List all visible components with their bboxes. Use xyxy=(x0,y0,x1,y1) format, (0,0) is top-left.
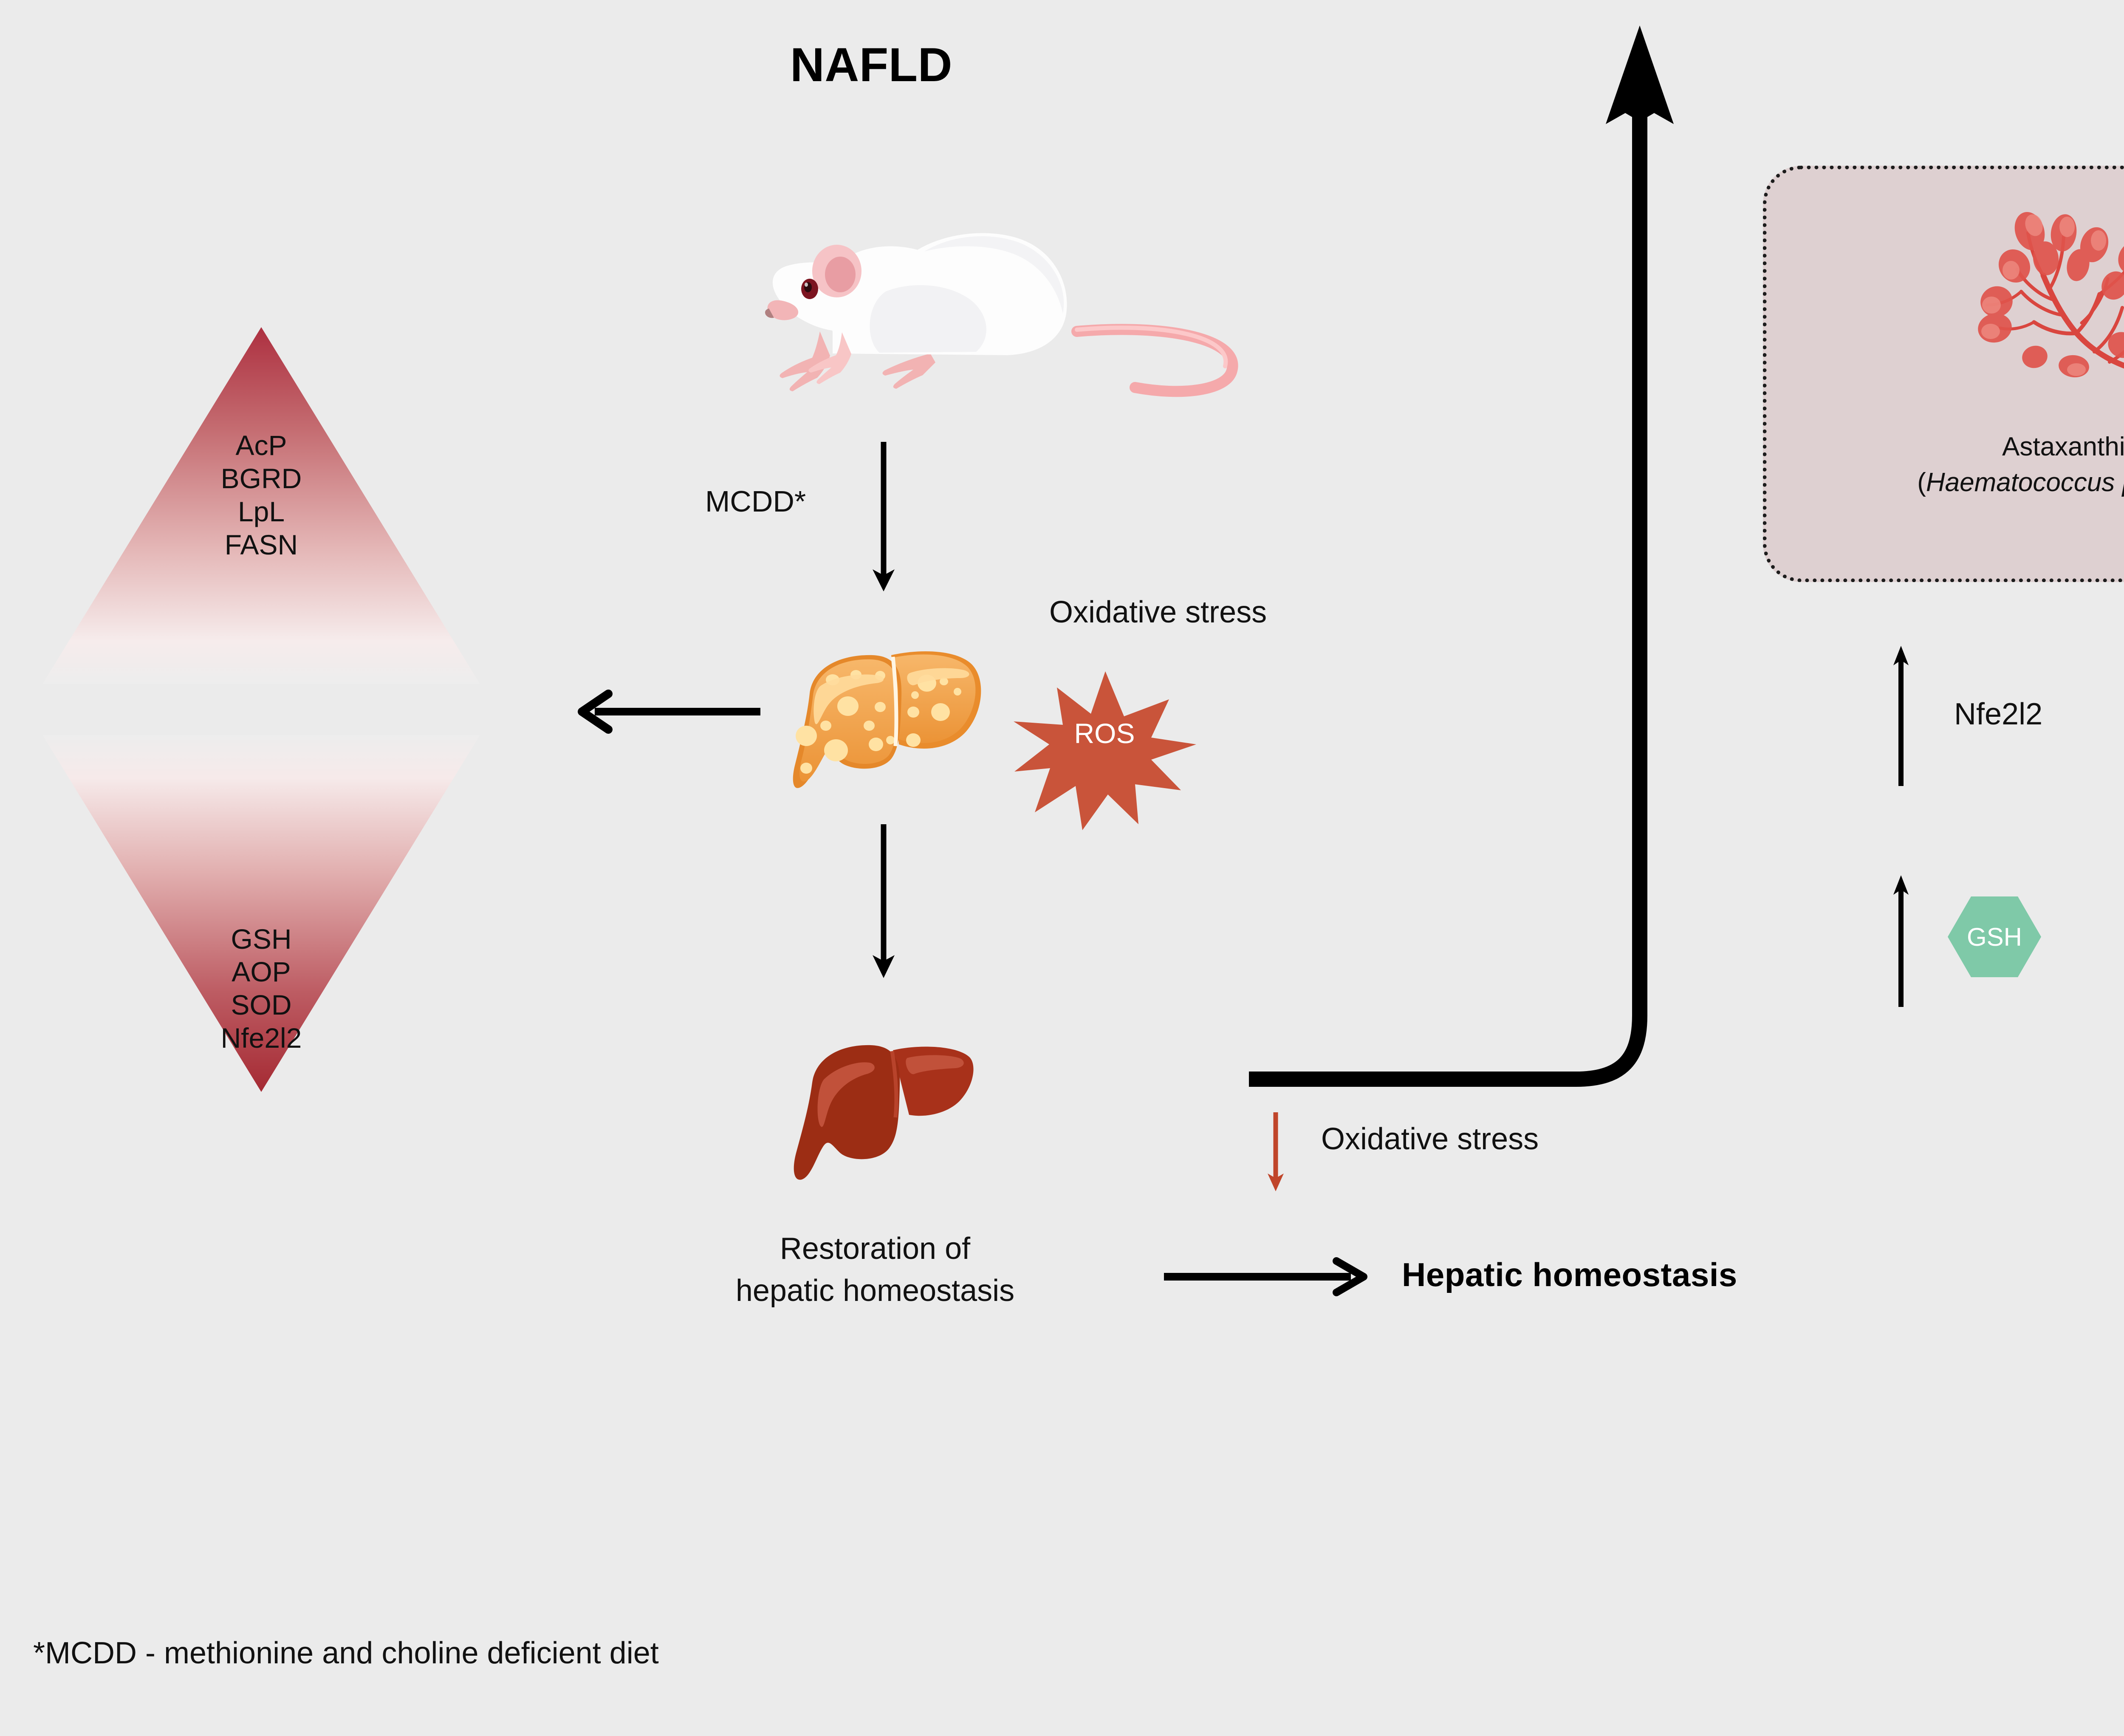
plant-scientific-name: (Haematococcus pluvialis) xyxy=(1848,465,2124,500)
plant-common-name: Astaxanthin xyxy=(1848,429,2124,465)
marker-item: LpL xyxy=(42,495,480,529)
effect-arrow-nfe2l2 xyxy=(1886,646,1916,786)
ros-label: ROS xyxy=(1011,717,1198,749)
markers-arrow xyxy=(561,690,765,733)
ros-starburst: ROS xyxy=(1011,654,1198,833)
effect-arrow-gsh xyxy=(1886,875,1916,1007)
progression-arrow xyxy=(858,824,909,981)
downregulated-marker-list: GSH AOP SOD Nfe2l2 xyxy=(42,923,480,1055)
nafld-title: NAFLD xyxy=(790,37,952,92)
lab-mouse-icon xyxy=(692,204,1245,382)
marker-item: AOP xyxy=(42,956,480,989)
marker-item: FASN xyxy=(42,529,480,562)
red-algae-icon xyxy=(1967,195,2124,382)
marker-item: GSH xyxy=(42,923,480,956)
intervention-feedback-arrow xyxy=(1223,25,1733,1092)
plant-caption-astaxanthin: Astaxanthin (Haematococcus pluvialis) xyxy=(1848,429,2124,500)
upregulated-marker-list: AcP BGRD LpL FASN xyxy=(42,429,480,562)
fatty-liver-icon xyxy=(769,620,990,799)
marker-item: SOD xyxy=(42,989,480,1022)
mcdd-label: MCDD* xyxy=(705,484,806,518)
restoration-line-2: hepatic homeostasis xyxy=(671,1270,1079,1312)
mcdd-arrow xyxy=(858,442,909,595)
marker-item: AcP xyxy=(42,429,480,462)
effect-label-nfe2l2: Nfe2l2 xyxy=(1954,697,2042,732)
gsh-badge: GSH xyxy=(1948,896,2041,977)
outcome-label: Hepatic homeostasis xyxy=(1402,1255,1737,1294)
restoration-line-1: Restoration of xyxy=(671,1228,1079,1270)
plant-scientific-name-text: Haematococcus pluvialis xyxy=(1926,468,2124,497)
gsh-badge-label: GSH xyxy=(1967,922,2022,952)
restoration-label: Restoration of hepatic homeostasis xyxy=(671,1228,1079,1312)
marker-item: Nfe2l2 xyxy=(42,1022,480,1055)
reduced-oxidative-stress-arrow xyxy=(1261,1112,1291,1193)
reduced-oxidative-stress-label: Oxidative stress xyxy=(1321,1122,1539,1156)
healthy-liver-icon xyxy=(765,1011,977,1190)
marker-item: BGRD xyxy=(42,462,480,495)
footnote: *MCDD - methionine and choline deficient… xyxy=(33,1636,659,1671)
marker-diamond: AcP BGRD LpL FASN GSH AOP SOD Nfe2l2 xyxy=(42,327,480,1092)
outcome-arrow xyxy=(1164,1258,1385,1296)
